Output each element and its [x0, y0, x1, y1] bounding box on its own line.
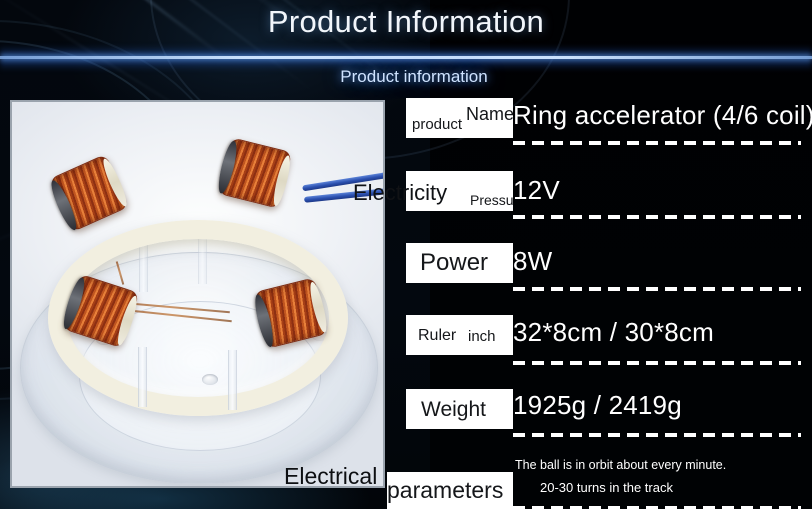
spec-label-secondary: inch	[468, 328, 496, 345]
beam-core	[0, 56, 812, 59]
spec-label-box: Weight	[406, 389, 513, 429]
product-photo	[10, 100, 385, 488]
spec-value: Ring accelerator (4/6 coil)	[513, 100, 812, 131]
spec-value: 12V	[513, 175, 560, 206]
spec-label-primary: Power	[420, 249, 488, 277]
spec-label-secondary: parameters	[387, 477, 503, 504]
acrylic-strut	[228, 350, 237, 410]
spec-label-primary: Ruler	[418, 327, 456, 345]
spec-value: 32*8cm / 30*8cm	[513, 317, 714, 348]
spec-row-divider	[513, 361, 801, 365]
spec-label-secondary: Name	[466, 104, 513, 125]
spec-label-box: parameters	[387, 472, 513, 509]
spec-label-primary: Electrical	[284, 463, 377, 490]
spec-row-divider	[513, 141, 801, 145]
spec-label-secondary: Pressure	[470, 192, 510, 208]
spec-value: 1925g / 2419g	[513, 390, 682, 421]
section-subtitle: Product information	[324, 67, 504, 87]
spec-value: 8W	[513, 246, 552, 277]
spec-label-primary: Weight	[421, 398, 486, 422]
page-title: Product Information	[0, 4, 812, 40]
acrylic-strut	[138, 347, 147, 407]
spec-note-line-1: The ball is in orbit about every minute.	[515, 458, 726, 472]
spec-row-divider	[513, 215, 801, 219]
spec-note-line-2: 20-30 turns in the track	[540, 480, 673, 495]
specification-table: product Name Ring accelerator (4/6 coil)…	[395, 95, 812, 509]
spec-row-divider	[513, 433, 801, 437]
spec-row-divider	[513, 287, 801, 291]
spec-label-box: product Name	[406, 98, 513, 138]
spec-label-primary: Electricity	[353, 180, 447, 206]
spec-label-box: Ruler inch	[406, 315, 513, 355]
spec-label-primary: product	[412, 116, 456, 133]
spec-label-box: Power	[406, 243, 513, 283]
